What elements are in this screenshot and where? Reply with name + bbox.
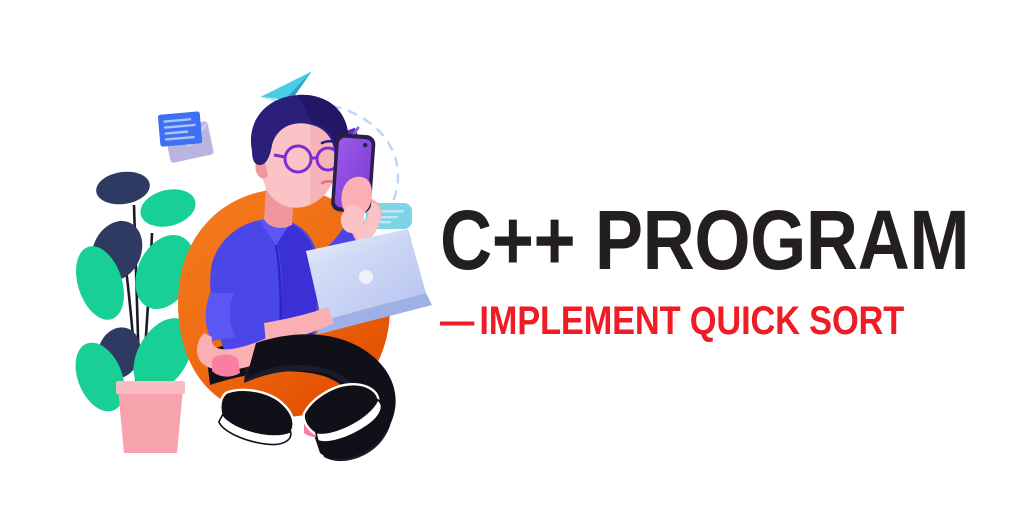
page-title: C++ PROGRAM xyxy=(440,206,887,275)
page-subtitle: —IMPLEMENT QUICK SORT xyxy=(440,275,887,341)
banner-root: C++ PROGRAM —IMPLEMENT QUICK SORT xyxy=(0,0,1024,512)
subtitle-text: IMPLEMENT QUICK SORT xyxy=(479,299,904,343)
sock-2 xyxy=(212,355,240,377)
subtitle-dash: — xyxy=(440,301,479,341)
title-block: C++ PROGRAM —IMPLEMENT QUICK SORT xyxy=(440,206,960,341)
envelope-letter xyxy=(154,105,214,164)
hero-illustration xyxy=(60,55,460,475)
